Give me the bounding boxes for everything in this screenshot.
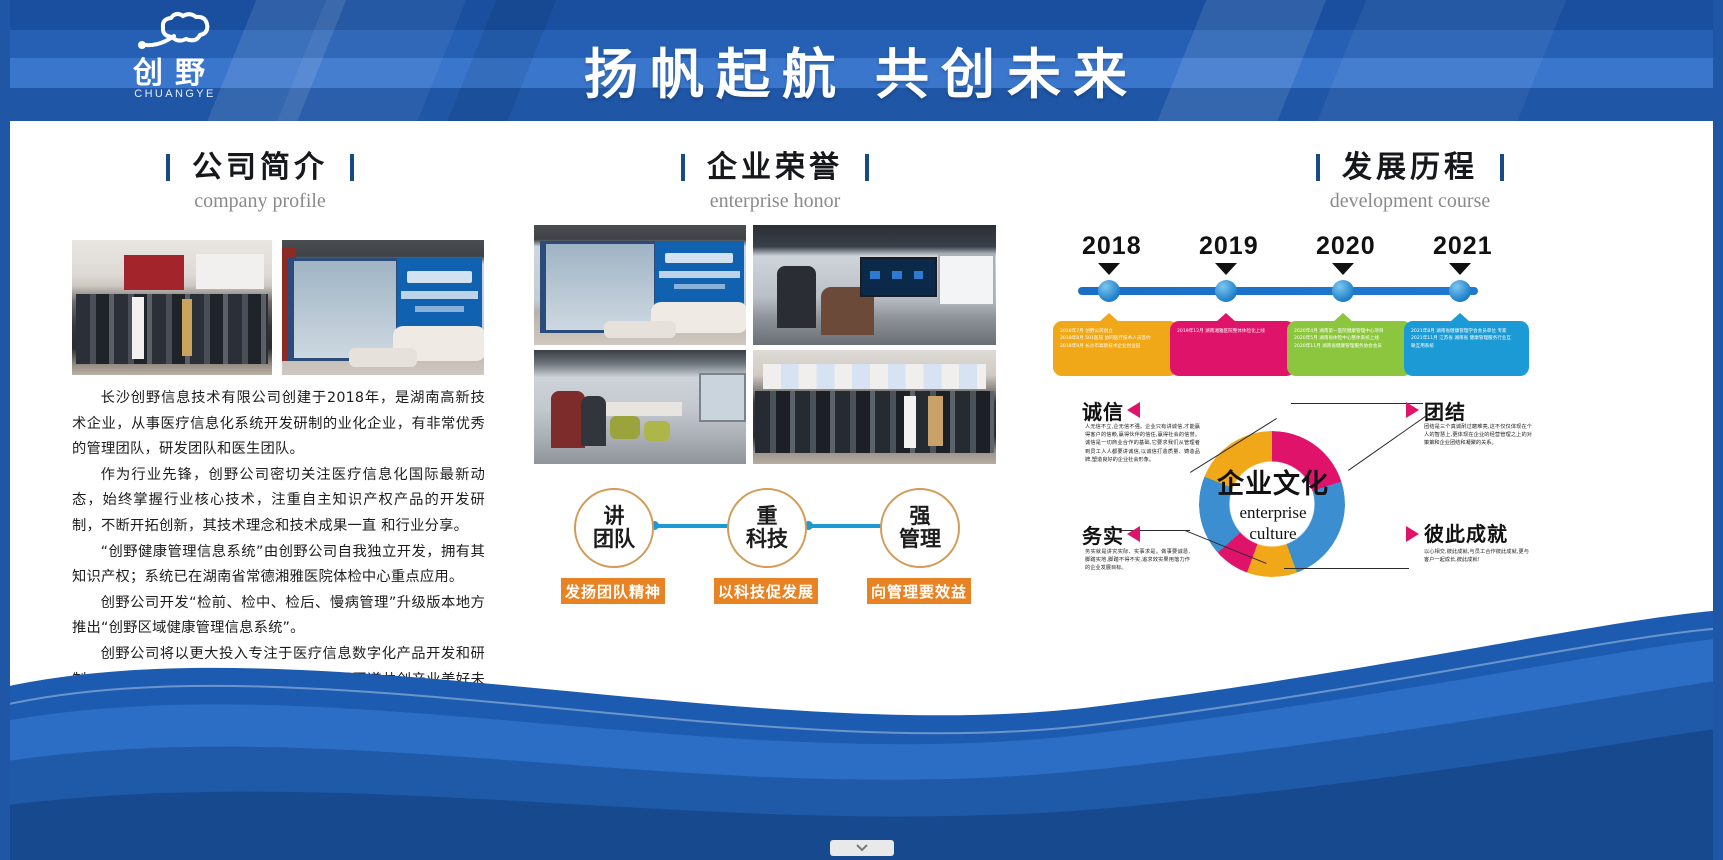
flow-circle-management: 强管理: [880, 488, 960, 568]
footer-scroll-handle[interactable]: [830, 840, 894, 856]
timeline-node-2018: [1098, 280, 1120, 302]
culture-label-tuanjie: 团结: [1424, 396, 1466, 425]
timeline-axis: [1078, 287, 1478, 295]
timeline-card-line: 2020年5月 湖南省体检中心整体系统上线: [1294, 335, 1406, 342]
culture-label-wushi: 务实: [1082, 520, 1124, 549]
culture-leader-tuanjie: [1348, 413, 1430, 471]
heading-bar-left: [1316, 154, 1320, 181]
timeline-card-line: 2019年12月 湖南湘雅医院整体体检化上线: [1177, 328, 1289, 335]
timeline-card-line: 2021年8月 湖南省健康管理学会会员单位 专家: [1411, 328, 1523, 335]
flow-circle-line1: 强: [899, 505, 941, 528]
timeline-card-line: 2021年11月 江苏省 湖南省 健康管理服务行业互: [1411, 335, 1523, 342]
culture-arrow-tuanjie: [1406, 402, 1419, 418]
culture-desc-wushi: 务实就是讲究实际、实事求是。做事要诚恳,脚踏实地,脚踏不得不实,追求效实果用落力…: [1085, 548, 1190, 573]
timeline-card-line: 2020年4月 湖南第一医院健康管理中心项目: [1294, 328, 1406, 335]
timeline-card-2020: 2020年4月 湖南第一医院健康管理中心项目 2020年5月 湖南省体检中心整体…: [1287, 321, 1412, 376]
culture-desc-bici: 以心相交,彼此成就,与员工合作彼此成就,更与客户一起成长,彼此成就!: [1424, 548, 1529, 564]
culture-label-chengxin: 诚信: [1082, 396, 1124, 425]
timeline-node-2019: [1215, 280, 1237, 302]
timeline-card-2021: 2021年8月 湖南省健康管理学会会员单位 专家 2021年11月 江苏省 湖南…: [1404, 321, 1529, 376]
section-heading-development-course: 发展历程 development course: [1180, 142, 1640, 213]
timeline-caret-2018: [1098, 263, 1120, 275]
culture-arrow-wushi: [1127, 526, 1140, 542]
office-reception-photo: [282, 240, 484, 375]
flow-circle-line2: 团队: [593, 528, 635, 551]
culture-center-cn: 企业文化: [1185, 462, 1361, 501]
heading-bar-right: [865, 154, 869, 181]
culture-desc-tuanjie: 团结是三个真诚耐过磨难亮,这不仅仅体现在个人的智慧上,更体现在企业的经营管理之上…: [1424, 423, 1532, 448]
timeline-year-2019: 2019: [1199, 232, 1259, 261]
heading-bar-right: [1500, 154, 1504, 181]
section-title-en: development course: [1180, 190, 1640, 213]
flow-button-tech-development[interactable]: 以科技促发展: [714, 578, 818, 604]
team-group-photo-lobby: [72, 240, 272, 375]
flow-circle-line1: 讲: [593, 505, 635, 528]
wave-svg: [0, 610, 1723, 860]
profile-paragraph: “创野健康管理信息系统”由创野公司自我独立开发，拥有其知识产权；系统已在湖南省常…: [72, 540, 485, 591]
section-title-cn: 发展历程: [1342, 142, 1478, 186]
timeline-year-2021: 2021: [1433, 232, 1493, 261]
timeline-card-line: 联互用系统: [1411, 343, 1523, 350]
open-office-desks-photo: [534, 350, 746, 464]
flow-circle-line2: 管理: [899, 528, 941, 551]
section-heading-company-profile: 公司简介 company profile: [30, 142, 490, 213]
culture-arrow-bici: [1406, 526, 1419, 542]
poster-right-edge: [1713, 0, 1723, 860]
flow-button-management-benefit[interactable]: 向管理要效益: [867, 578, 971, 604]
profile-paragraph: 作为行业先锋，创野公司密切关注医疗信息化国际最新动态，始终掌握行业核心技术，注重…: [72, 463, 485, 540]
timeline-year-2018: 2018: [1082, 232, 1142, 261]
section-heading-enterprise-honor: 企业荣誉 enterprise honor: [545, 142, 1005, 213]
timeline-year-2020: 2020: [1316, 232, 1376, 261]
culture-center-en-1: enterprise: [1185, 503, 1361, 522]
heading-bar-left: [166, 154, 170, 181]
culture-center-label: 企业文化 enterprise culture: [1185, 462, 1361, 543]
timeline-card-line: 2018年8月 501医院 协同医疗技术人员签约: [1060, 335, 1172, 342]
poster-left-edge: [0, 0, 10, 860]
section-title-en: company profile: [30, 190, 490, 213]
footer-wave-decoration: [0, 610, 1723, 860]
culture-label-bici: 彼此成就: [1424, 518, 1508, 547]
timeline-card-2018: 2018年7月 创野公司创立 2018年8月 501医院 协同医疗技术人员签约 …: [1053, 321, 1178, 376]
flow-circle-team: 讲团队: [574, 488, 654, 568]
flow-circle-line1: 重: [746, 505, 788, 528]
timeline-caret-2020: [1332, 263, 1354, 275]
culture-leader-bici-h: [1284, 568, 1409, 569]
poster-main-title: 扬帆起航 共创未来: [0, 30, 1723, 109]
profile-paragraph: 长沙创野信息技术有限公司创建于2018年，是湖南高新技术企业，从事医疗信息化系统…: [72, 386, 485, 463]
timeline-card-line: 2018年9月 长沙市高新技术企业创业园: [1060, 343, 1172, 350]
section-title-cn: 企业荣誉: [707, 142, 843, 186]
section-title-cn: 公司简介: [192, 142, 328, 186]
chevron-down-icon: [856, 844, 868, 852]
timeline-caret-2021: [1449, 263, 1471, 275]
timeline-card-2019: 2019年12月 湖南湘雅医院整体体检化上线: [1170, 321, 1295, 376]
timeline-card-line: 2020年11月 湖南省健康管理服务协会会员: [1294, 343, 1406, 350]
heading-bar-left: [681, 154, 685, 181]
poster-header: 创野 CHUANGYE 扬帆起航 共创未来: [0, 0, 1723, 121]
timeline-node-2021: [1449, 280, 1471, 302]
culture-desc-chengxin: 人无信不立,企无信不强。企业只有讲诚信,才能赢得客户的信赖,赢得伙伴的信任,赢得…: [1085, 423, 1200, 464]
poster-canvas: 创野 CHUANGYE 扬帆起航 共创未来 公司简介 company profi…: [0, 0, 1723, 860]
timeline-node-2020: [1332, 280, 1354, 302]
timeline-caret-2019: [1215, 263, 1237, 275]
office-glass-wall-photo: [534, 225, 746, 345]
section-title-en: enterprise honor: [545, 190, 1005, 213]
culture-arrow-chengxin: [1127, 402, 1140, 418]
timeline-card-line: 2018年7月 创野公司创立: [1060, 328, 1172, 335]
flow-circle-tech: 重科技: [727, 488, 807, 568]
meeting-presentation-photo: [753, 225, 996, 345]
flow-button-team-spirit[interactable]: 发扬团队精神: [561, 578, 665, 604]
heading-bar-right: [350, 154, 354, 181]
flow-circle-line2: 科技: [746, 528, 788, 551]
team-group-hall-photo: [753, 350, 996, 464]
